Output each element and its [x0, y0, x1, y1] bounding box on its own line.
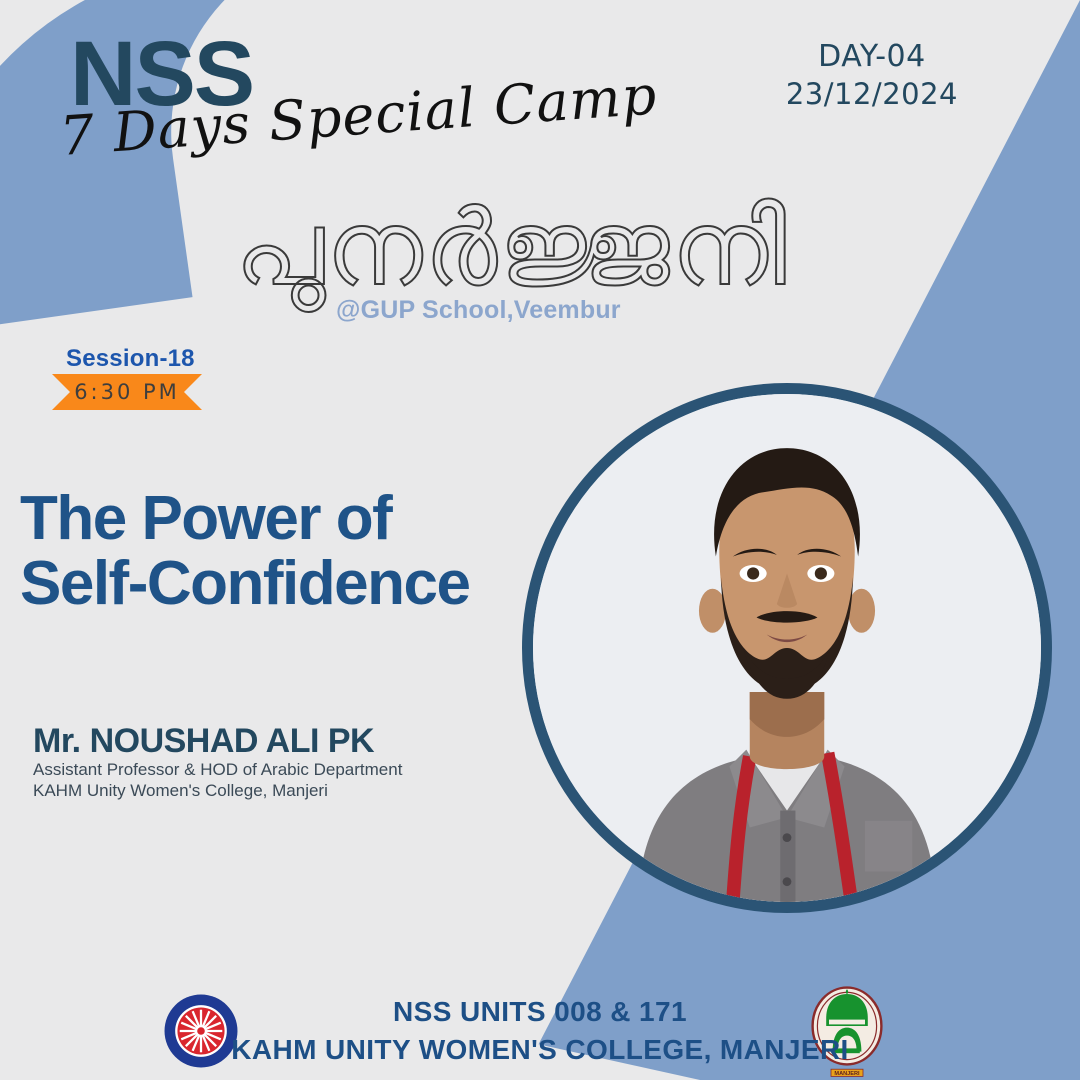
college-logo-label: MANJERI — [834, 1071, 860, 1077]
college-logo-icon: MANJERI — [806, 986, 888, 1078]
day-label: DAY-04 — [786, 38, 958, 76]
speaker-organization: KAHM Unity Women's College, Manjeri — [33, 781, 328, 801]
session-time-ribbon: 6:30 PM — [52, 374, 202, 410]
session-number: Session-18 — [66, 345, 195, 373]
page-title: The Power of Self-Confidence — [20, 486, 469, 616]
bottom-light-wedge-2 — [0, 925, 700, 1080]
session-time: 6:30 PM — [74, 380, 180, 404]
date-label: 23/12/2024 — [786, 76, 958, 112]
speaker-role: Assistant Professor & HOD of Arabic Depa… — [33, 760, 402, 780]
topic-line-1: The Power of — [20, 486, 469, 551]
footer-units: NSS UNITS 008 & 171 — [0, 996, 1080, 1028]
day-date-block: DAY-04 23/12/2024 — [786, 38, 958, 112]
venue-label: @GUP School,Veembur — [336, 296, 621, 325]
topic-line-2: Self-Confidence — [20, 551, 469, 616]
speaker-name: Mr. NOUSHAD ALI PK — [33, 722, 374, 761]
speaker-portrait-illustration — [533, 394, 1041, 902]
footer-college: KAHM UNITY WOMEN'S COLLEGE, MANJERI — [0, 1034, 1080, 1066]
nss-logo-icon — [163, 993, 239, 1069]
campaign-title-malayalam: പുനർജ്ജനി — [235, 196, 788, 300]
poster-canvas: NSS 7 Days Special Camp DAY-04 23/12/202… — [0, 0, 1080, 1080]
speaker-photo — [522, 383, 1052, 913]
footer: NSS UNITS 008 & 171 KAHM UNITY WOMEN'S C… — [0, 996, 1080, 1066]
bottom-left-light-wedge — [0, 900, 660, 1080]
